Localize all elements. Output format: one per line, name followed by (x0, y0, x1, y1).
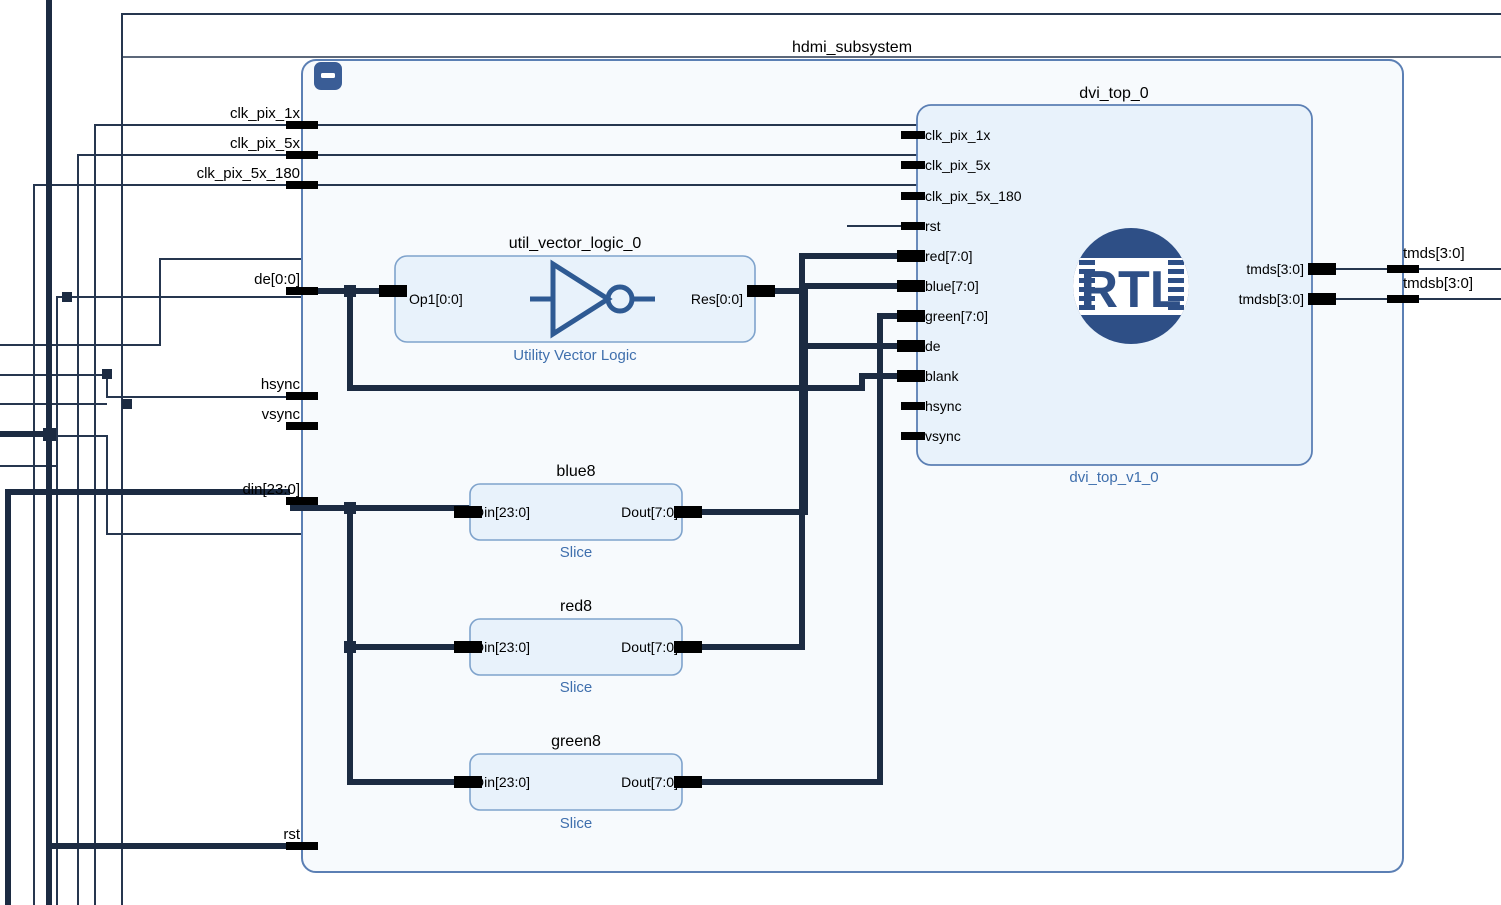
pin-label-dvi-rst: rst (925, 218, 941, 234)
block-subtitle-util-vector-logic: Utility Vector Logic (513, 347, 637, 364)
block-subtitle-blue8: Slice (560, 544, 593, 561)
pin-label-dvi-clk-pix-5x: clk_pix_5x (925, 157, 990, 173)
pin-label-din-blue8: Din[23:0] (474, 504, 530, 520)
pin-label-dvi-clk-pix-1x: clk_pix_1x (925, 127, 990, 143)
pin-label-dvi-clk-pix-5x-180: clk_pix_5x_180 (925, 188, 1022, 204)
pin-label-dvi-tmdsb: tmdsb[3:0] (1239, 291, 1304, 307)
pin-label-din-red8: Din[23:0] (474, 639, 530, 655)
out-label-tmds: tmds[3:0] (1403, 245, 1465, 262)
block-title-red8: red8 (560, 598, 592, 615)
port-label-clk-pix-5x-180: clk_pix_5x_180 (197, 165, 300, 182)
pin-label-dvi-red: red[7:0] (925, 248, 972, 264)
port-label-din: din[23:0] (242, 481, 300, 498)
minus-icon (321, 73, 335, 78)
pin-label-dvi-de: de (925, 338, 941, 354)
pin-label-dvi-blank: blank (925, 368, 959, 384)
block-title-blue8: blue8 (556, 463, 595, 480)
block-subtitle-red8: Slice (560, 679, 593, 696)
port-label-vsync: vsync (262, 406, 301, 423)
pin-label-dout-green8: Dout[7:0] (621, 774, 678, 790)
pin-label-dvi-green: green[7:0] (925, 308, 988, 324)
block-subtitle-dvi-top-0: dvi_top_v1_0 (1069, 469, 1158, 486)
port-label-hsync: hsync (261, 376, 301, 393)
pin-label-dout-blue8: Dout[7:0] (621, 504, 678, 520)
pin-label-res: Res[0:0] (691, 291, 743, 307)
svg-text:RTL: RTL (1080, 261, 1181, 319)
pin-label-din-green8: Din[23:0] (474, 774, 530, 790)
port-label-rst: rst (283, 826, 300, 843)
diagram-svg: RTL (0, 0, 1501, 905)
pin-label-op1: Op1[0:0] (409, 291, 463, 307)
block-title-util-vector-logic: util_vector_logic_0 (509, 235, 642, 252)
port-label-clk-pix-5x: clk_pix_5x (230, 135, 301, 152)
pin-label-dout-red8: Dout[7:0] (621, 639, 678, 655)
pin-label-dvi-tmds: tmds[3:0] (1246, 261, 1304, 277)
block-subtitle-green8: Slice (560, 815, 593, 832)
port-label-clk-pix-1x: clk_pix_1x (230, 105, 301, 122)
pin-label-dvi-vsync: vsync (925, 428, 961, 444)
out-label-tmdsb: tmdsb[3:0] (1403, 275, 1473, 292)
pin-label-dvi-hsync: hsync (925, 398, 962, 414)
block-title-dvi-top-0: dvi_top_0 (1079, 85, 1148, 102)
block-diagram-canvas[interactable]: RTL (0, 0, 1501, 905)
port-label-de: de[0:0] (254, 271, 300, 288)
subsystem-title: hdmi_subsystem (792, 39, 912, 56)
block-title-green8: green8 (551, 733, 601, 750)
pin-label-dvi-blue: blue[7:0] (925, 278, 979, 294)
subsystem-collapse-button[interactable] (314, 62, 342, 90)
rtl-logo-icon: RTL (1073, 228, 1189, 344)
